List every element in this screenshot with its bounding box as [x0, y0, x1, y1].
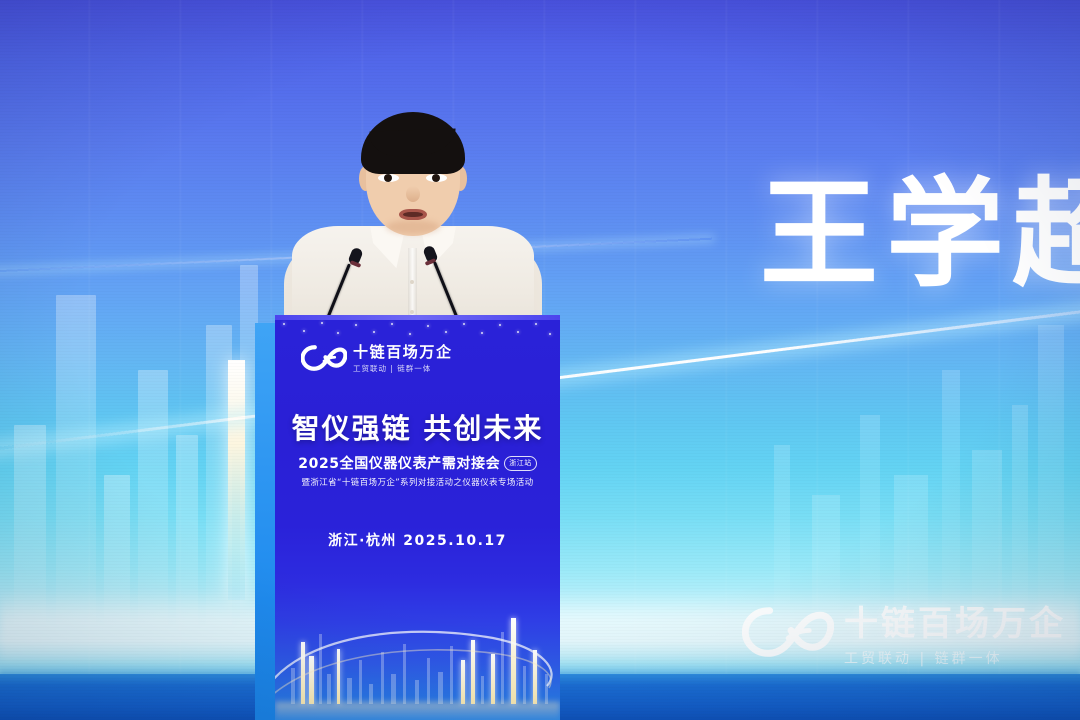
shirt-button: [410, 280, 414, 284]
chin-shadow: [386, 220, 440, 234]
conference-stage-photo: 王学超 十链百场万企 工贸联动 | 链群一体: [0, 0, 1080, 720]
podium-main-title: 智仪强链 共创未来: [275, 407, 560, 447]
podium-subtitle-secondary: 暨浙江省“十链百场万企”系列对接活动之仪器仪表专场活动: [275, 476, 560, 488]
microphone-band: [350, 260, 362, 268]
podium-subtitle-row: 2025全国仪器仪表产需对接会 浙江站: [275, 453, 560, 473]
infinity-swoosh-icon: [301, 343, 347, 373]
podium-place-date: 浙江·杭州 2025.10.17: [275, 530, 560, 550]
corner-logo-wordmark: 十链百场万企: [844, 596, 1066, 645]
shirt-button: [410, 310, 414, 314]
led-wall-corner-logo: 十链百场万企 工贸联动 | 链群一体: [742, 596, 1066, 668]
gooseneck-microphone-right: [415, 246, 485, 326]
pupil-left: [384, 174, 392, 182]
podium-logo-tagline: 工贸联动 | 链群一体: [353, 363, 453, 374]
nose: [406, 186, 420, 202]
mouth-interior: [403, 212, 423, 217]
pupil-right: [432, 174, 440, 182]
eye-left: [378, 174, 399, 182]
mouth: [399, 209, 427, 220]
podium-logo-wordmark: 十链百场万企: [353, 341, 453, 362]
podium-light-swoosh: [275, 616, 560, 702]
speaker-name-caption: 王学超: [760, 175, 1080, 293]
infinity-swoosh-icon: [742, 603, 834, 661]
podium-base-glow: [275, 702, 560, 720]
corner-logo-tagline: 工贸联动 | 链群一体: [844, 648, 1066, 668]
podium-side-panel: [255, 323, 277, 720]
podium-front-panel: 十链百场万企 工贸联动 | 链群一体 智仪强链 共创未来 2025全国仪器仪表产…: [275, 315, 560, 720]
podium-subtitle-badge: 浙江站: [504, 456, 537, 471]
podium-subtitle: 2025全国仪器仪表产需对接会: [298, 453, 500, 473]
podium-decorative-skyline: [275, 600, 560, 720]
podium-logo: 十链百场万企 工贸联动 | 链群一体: [301, 341, 453, 374]
eye-right: [426, 174, 447, 182]
podium-top-edge: [275, 315, 560, 320]
podium: 十链百场万企 工贸联动 | 链群一体 智仪强链 共创未来 2025全国仪器仪表产…: [255, 315, 560, 720]
